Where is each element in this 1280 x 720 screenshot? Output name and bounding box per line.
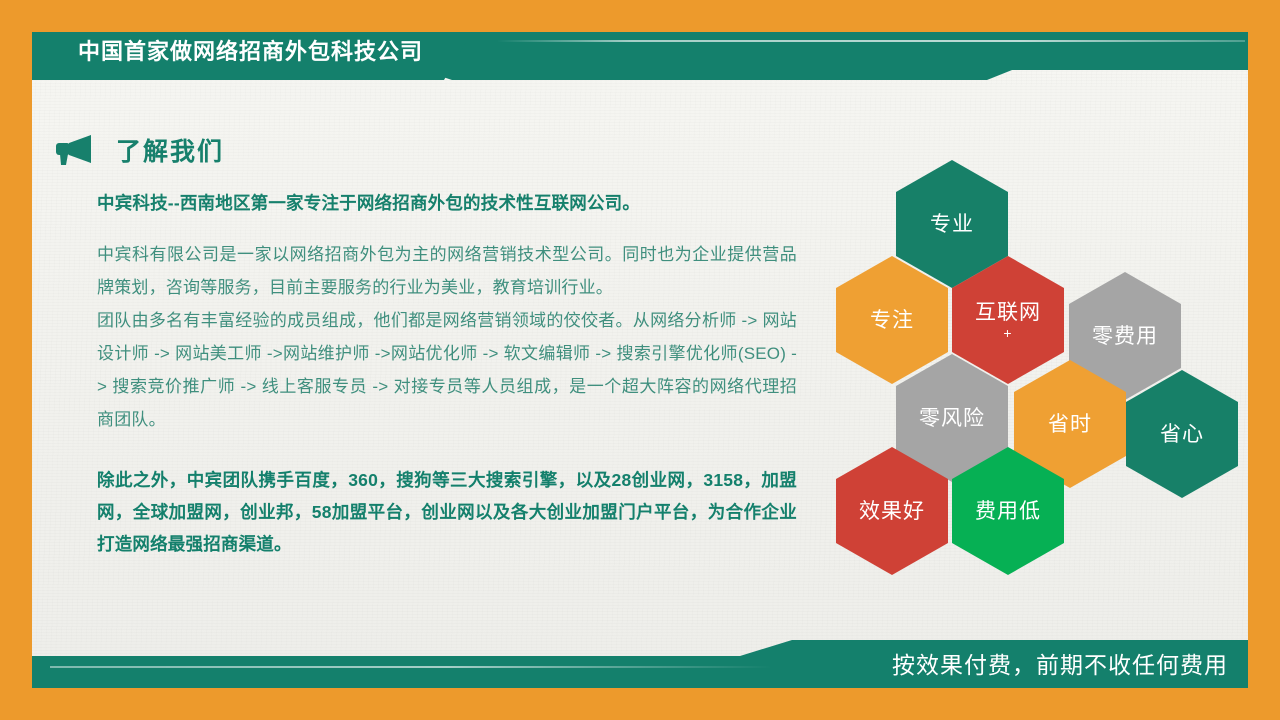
section-heading: 了解我们: [52, 132, 224, 168]
paragraph-1: 中宾科有限公司是一家以网络招商外包为主的网络营销技术型公司。同时也为企业提供营品…: [97, 238, 797, 304]
section-title: 了解我们: [116, 132, 224, 168]
hex-label: 互联网+: [975, 300, 1041, 341]
lead-paragraph: 中宾科技--西南地区第一家专注于网络招商外包的技术性互联网公司。: [97, 190, 797, 216]
slide-canvas: 中国首家做网络招商外包科技公司 了解我们 中宾科技--西南地区第一家专注于网络招…: [0, 0, 1280, 720]
hex-label: 零风险: [919, 406, 985, 431]
hex-label: 省时: [1048, 412, 1092, 437]
header-hairline: [497, 40, 1245, 42]
body-copy: 中宾科技--西南地区第一家专注于网络招商外包的技术性互联网公司。 中宾科有限公司…: [97, 190, 797, 560]
header-band: 中国首家做网络招商外包科技公司: [32, 32, 1248, 80]
footer-hairline: [50, 666, 772, 668]
hex-label: 零费用: [1092, 324, 1158, 349]
hex-label: 省心: [1160, 422, 1204, 447]
header-title: 中国首家做网络招商外包科技公司: [78, 32, 423, 72]
hex-label: 专注: [870, 308, 914, 333]
closing-paragraph: 除此之外，中宾团队携手百度，360，搜狗等三大搜索引擎，以及28创业网，3158…: [97, 464, 797, 560]
megaphone-icon: [52, 133, 96, 167]
hex-label-plus: +: [975, 325, 1041, 341]
footer-band: 按效果付费，前期不收任何费用: [32, 640, 1248, 688]
hex-label: 费用低: [975, 499, 1041, 524]
hex-label: 效果好: [859, 499, 925, 524]
honeycomb-diagram: 专业专注互联网+零费用零风险省时省心效果好费用低: [836, 160, 1236, 530]
hex-label: 专业: [930, 212, 974, 237]
paragraph-2: 团队由多名有丰富经验的成员组成，他们都是网络营销领域的佼佼者。从网络分析师 ->…: [97, 304, 797, 436]
footer-tagline: 按效果付费，前期不收任何费用: [892, 648, 1228, 682]
